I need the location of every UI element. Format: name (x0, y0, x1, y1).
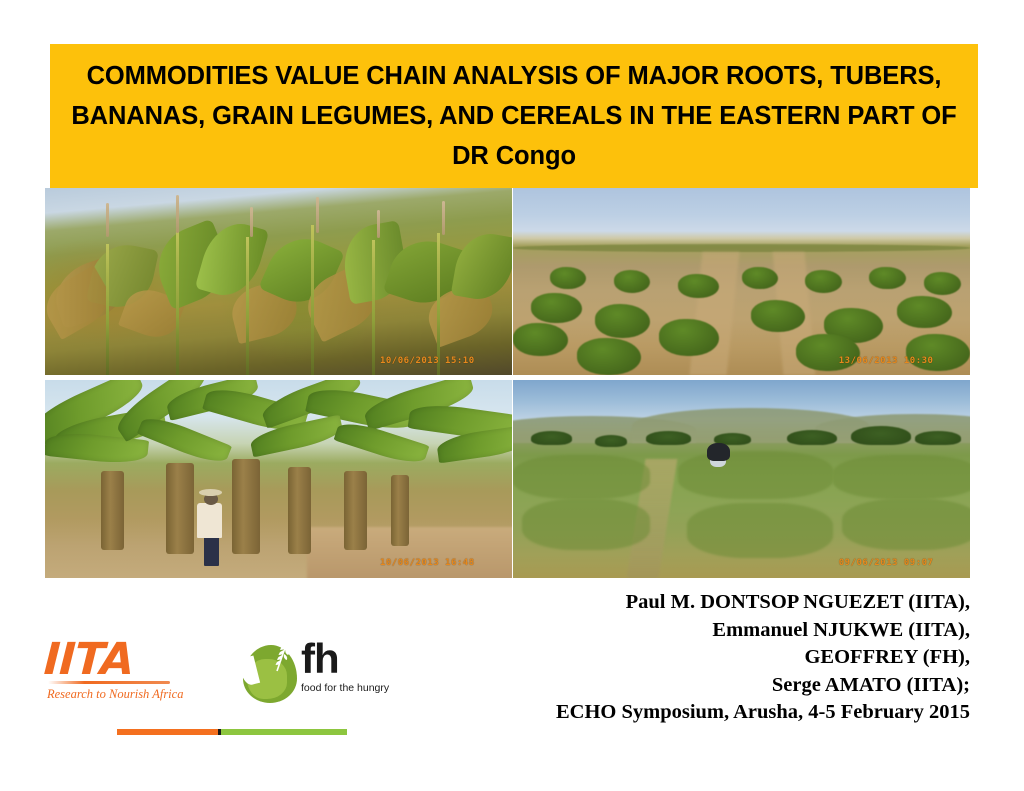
iita-accent-bar-orange (117, 729, 218, 735)
author-line-2: Emmanuel NJUKWE (IITA), (350, 617, 970, 645)
photo-timestamp: 09/06/2013 09:07 (839, 558, 934, 568)
author-line-3: GEOFFREY (FH), (350, 644, 970, 672)
farmer-figure (204, 534, 219, 566)
photo-timestamp: 10/06/2013 15:10 (380, 356, 475, 366)
photo-cassava-field: 13/06/2013 10:30 (513, 188, 970, 375)
author-line-4: Serge AMATO (IITA); (350, 672, 970, 700)
photo-legume-field: 09/06/2013 09:07 (513, 380, 970, 578)
photo-maize-field: 10/06/2013 15:10 (45, 188, 512, 375)
photo-banana-plantation: 10/06/2013 16:48 (45, 380, 512, 578)
page-title: COMMODITIES VALUE CHAIN ANALYSIS OF MAJO… (50, 56, 978, 176)
iita-tagline: Research to Nourish Africa (47, 687, 209, 702)
fh-logo: fh food for the hungry (243, 637, 388, 722)
fh-leaf-mark-icon (243, 641, 299, 703)
wheat-stalk-icon (269, 641, 291, 677)
author-credits: Paul M. DONTSOP NGUEZET (IITA), Emmanuel… (350, 589, 970, 727)
iita-accent-bar (117, 729, 347, 735)
photo-timestamp: 10/06/2013 16:48 (380, 558, 475, 568)
photo-timestamp: 13/06/2013 10:30 (839, 356, 934, 366)
fh-tagline: food for the hungry (301, 682, 389, 694)
event-line: ECHO Symposium, Arusha, 4-5 February 201… (350, 699, 970, 727)
iita-logo: IITA Research to Nourish Africa (44, 637, 209, 717)
iita-accent-bar-green (221, 729, 347, 735)
iita-wordmark: IITA (43, 637, 210, 683)
photo-collage: 10/06/2013 15:10 13/06/2013 10:30 (45, 188, 970, 578)
author-line-1: Paul M. DONTSOP NGUEZET (IITA), (350, 589, 970, 617)
title-banner: COMMODITIES VALUE CHAIN ANALYSIS OF MAJO… (50, 44, 978, 188)
fh-wordmark: fh (301, 637, 389, 681)
fh-text-group: fh food for the hungry (301, 637, 389, 694)
